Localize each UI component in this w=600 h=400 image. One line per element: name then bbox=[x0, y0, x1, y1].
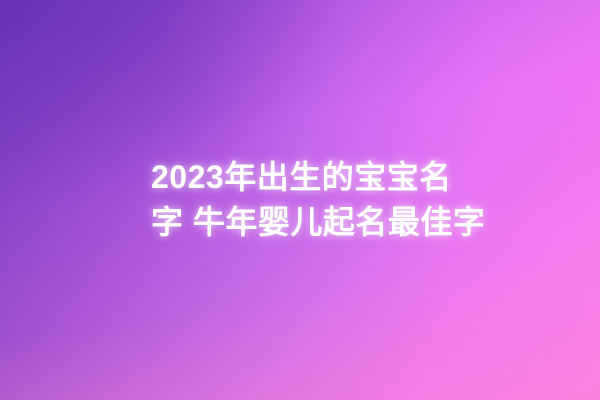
headline-text-block: 2023年出生的宝宝名 字 牛年婴儿起名最佳字 bbox=[151, 155, 461, 245]
headline-line-2: 字 牛年婴儿起名最佳字 bbox=[151, 200, 461, 245]
headline-line-1: 2023年出生的宝宝名 bbox=[151, 155, 461, 200]
promo-banner: 2023年出生的宝宝名 字 牛年婴儿起名最佳字 bbox=[0, 0, 600, 400]
